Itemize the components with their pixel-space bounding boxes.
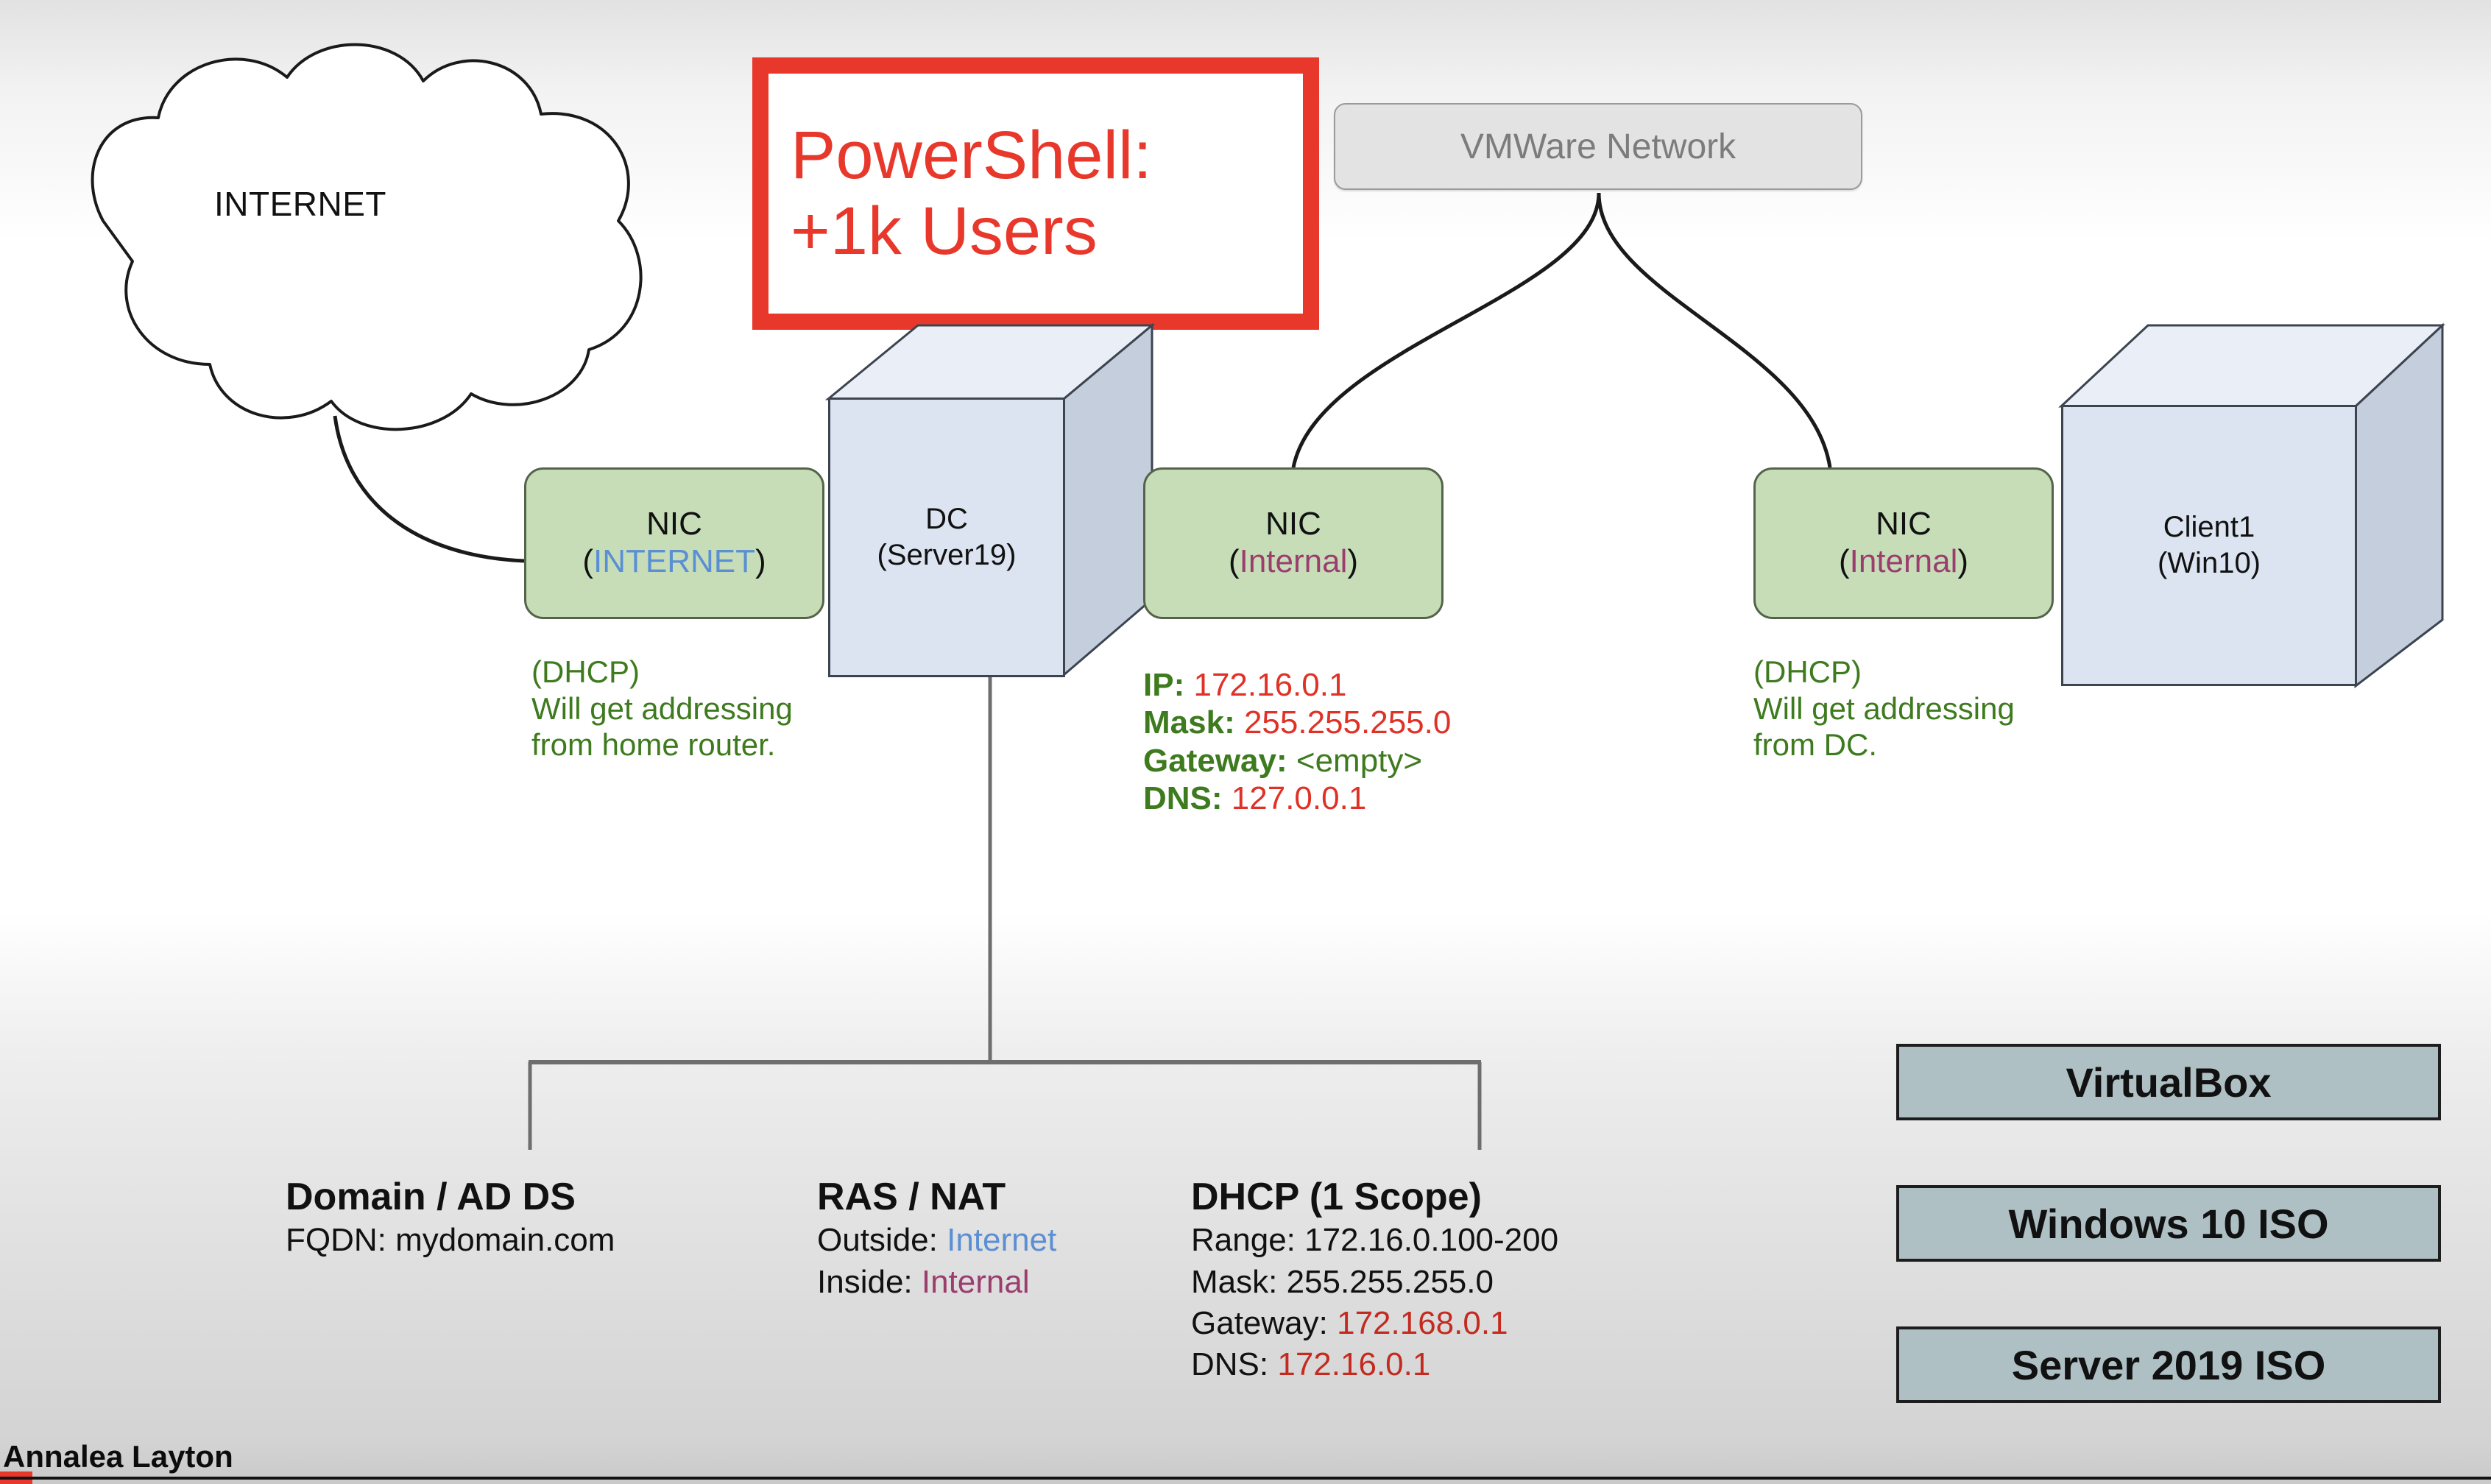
ipconfig-ip-label: IP: bbox=[1143, 667, 1184, 703]
ipconfig-block: IP: 172.16.0.1 Mask: 255.255.255.0 Gatew… bbox=[1143, 666, 1451, 818]
role-domain-fqdn-value: mydomain.com bbox=[395, 1222, 615, 1258]
server-box-dc-front: DC (Server19) bbox=[828, 397, 1065, 677]
nic-internal-client-close-paren: ) bbox=[1957, 543, 1968, 579]
nic-internal-dc-open-paren: ( bbox=[1229, 543, 1240, 579]
tool-box-server-2019-iso-label: Server 2019 ISO bbox=[2012, 1341, 2326, 1389]
nic-internal-dc-title: NIC bbox=[1265, 506, 1321, 542]
role-ras-outside: Outside: Internet bbox=[817, 1221, 1056, 1259]
ipconfig-mask-label: Mask: bbox=[1143, 704, 1235, 741]
powershell-callout-line-1: PowerShell: bbox=[768, 118, 1303, 194]
nic-internet-dc-title: NIC bbox=[646, 506, 702, 542]
role-dhcp-mask-value: 255.255.255.0 bbox=[1287, 1264, 1494, 1300]
role-dhcp-gateway-label: Gateway: bbox=[1191, 1305, 1337, 1341]
role-ras-title: RAS / NAT bbox=[817, 1176, 1056, 1218]
powershell-callout: PowerShell: +1k Users bbox=[752, 57, 1319, 330]
role-dhcp-mask: Mask: 255.255.255.0 bbox=[1191, 1263, 1558, 1301]
role-ras-inside-value: Internal bbox=[922, 1264, 1030, 1300]
vmware-network-box: VMWare Network bbox=[1334, 103, 1862, 190]
role-dhcp-range-value: 172.16.0.100-200 bbox=[1304, 1222, 1558, 1258]
nic-internal-client-network: (Internal) bbox=[1839, 543, 1968, 581]
vmware-network-label: VMWare Network bbox=[1460, 127, 1736, 167]
nic-internet-dc-open-paren: ( bbox=[582, 543, 593, 579]
role-dhcp-gateway-value: 172.168.0.1 bbox=[1337, 1305, 1508, 1341]
note-dhcp-internet-line-3: from home router. bbox=[531, 727, 793, 763]
ipconfig-row-ip: IP: 172.16.0.1 bbox=[1143, 666, 1451, 704]
ipconfig-row-dns: DNS: 127.0.0.1 bbox=[1143, 780, 1451, 817]
role-domain-ad-ds: Domain / AD DS FQDN: mydomain.com bbox=[286, 1176, 615, 1260]
role-dhcp-mask-label: Mask: bbox=[1191, 1264, 1287, 1300]
role-dhcp-dns-value: 172.16.0.1 bbox=[1277, 1346, 1430, 1382]
note-dhcp-client-line-3: from DC. bbox=[1753, 727, 2015, 763]
role-domain-fqdn-label: FQDN: bbox=[286, 1222, 395, 1258]
server-box-client1: Client1 (Win10) bbox=[2061, 325, 2459, 693]
tool-box-windows-10-iso: Windows 10 ISO bbox=[1896, 1185, 2441, 1262]
nic-internet-dc-network-name: INTERNET bbox=[593, 543, 755, 579]
role-dhcp-title: DHCP (1 Scope) bbox=[1191, 1176, 1558, 1218]
nic-internal-client-open-paren: ( bbox=[1839, 543, 1850, 579]
role-dhcp-gateway: Gateway: 172.168.0.1 bbox=[1191, 1304, 1558, 1343]
nic-internal-client-network-name: Internal bbox=[1850, 543, 1958, 579]
ipconfig-ip-value: 172.16.0.1 bbox=[1193, 667, 1346, 703]
role-ras-inside-label: Inside: bbox=[817, 1264, 922, 1300]
note-dhcp-internet-line-2: Will get addressing bbox=[531, 690, 793, 727]
bottom-rule bbox=[0, 1477, 2491, 1480]
server-box-client1-line-2: (Win10) bbox=[2158, 545, 2261, 582]
powershell-callout-line-2: +1k Users bbox=[768, 194, 1303, 269]
nic-internet-dc-network: (INTERNET) bbox=[582, 543, 766, 581]
note-dhcp-client-line-2: Will get addressing bbox=[1753, 690, 2015, 727]
ipconfig-dns-label: DNS: bbox=[1143, 780, 1223, 816]
nic-internal-dc-network-name: Internal bbox=[1240, 543, 1348, 579]
server-box-client1-front: Client1 (Win10) bbox=[2061, 405, 2357, 686]
tool-box-windows-10-iso-label: Windows 10 ISO bbox=[2008, 1200, 2328, 1248]
role-ras-nat: RAS / NAT Outside: Internet Inside: Inte… bbox=[817, 1176, 1056, 1301]
role-dhcp-range: Range: 172.16.0.100-200 bbox=[1191, 1221, 1558, 1259]
nic-internal-dc: NIC (Internal) bbox=[1143, 467, 1444, 619]
ipconfig-row-mask: Mask: 255.255.255.0 bbox=[1143, 704, 1451, 741]
author-caption: Annalea Layton bbox=[3, 1439, 233, 1474]
role-ras-inside: Inside: Internal bbox=[817, 1263, 1056, 1301]
nic-internal-client: NIC (Internal) bbox=[1753, 467, 2054, 619]
internet-cloud-label: INTERNET bbox=[168, 184, 433, 224]
nic-internal-dc-network: (Internal) bbox=[1229, 543, 1358, 581]
ipconfig-gateway-value: <empty> bbox=[1296, 743, 1422, 779]
role-dhcp-dns-label: DNS: bbox=[1191, 1346, 1277, 1382]
note-dhcp-internet: (DHCP) Will get addressing from home rou… bbox=[531, 654, 793, 763]
server-box-dc-line-1: DC bbox=[925, 501, 968, 537]
role-dhcp-range-label: Range: bbox=[1191, 1222, 1304, 1258]
tool-box-virtualbox-label: VirtualBox bbox=[2066, 1059, 2271, 1106]
role-dhcp-scope: DHCP (1 Scope) Range: 172.16.0.100-200 M… bbox=[1191, 1176, 1558, 1385]
ipconfig-dns-value: 127.0.0.1 bbox=[1232, 780, 1367, 816]
ipconfig-mask-value: 255.255.255.0 bbox=[1244, 704, 1451, 741]
nic-internet-dc: NIC (INTERNET) bbox=[524, 467, 824, 619]
ipconfig-gateway-label: Gateway: bbox=[1143, 743, 1287, 779]
role-dhcp-dns: DNS: 172.16.0.1 bbox=[1191, 1346, 1558, 1384]
tool-box-virtualbox: VirtualBox bbox=[1896, 1044, 2441, 1120]
ipconfig-row-gateway: Gateway: <empty> bbox=[1143, 742, 1451, 780]
nic-internal-client-title: NIC bbox=[1876, 506, 1932, 542]
server-box-client1-line-1: Client1 bbox=[2163, 509, 2255, 545]
note-dhcp-client-line-1: (DHCP) bbox=[1753, 654, 2015, 690]
nic-internal-dc-close-paren: ) bbox=[1347, 543, 1358, 579]
server-box-dc: DC (Server19) bbox=[828, 325, 1167, 679]
note-dhcp-client: (DHCP) Will get addressing from DC. bbox=[1753, 654, 2015, 763]
server-box-dc-line-2: (Server19) bbox=[877, 537, 1017, 573]
tool-box-server-2019-iso: Server 2019 ISO bbox=[1896, 1326, 2441, 1403]
role-domain-title: Domain / AD DS bbox=[286, 1176, 615, 1218]
role-domain-fqdn: FQDN: mydomain.com bbox=[286, 1221, 615, 1259]
role-ras-outside-label: Outside: bbox=[817, 1222, 947, 1258]
role-ras-outside-value: Internet bbox=[947, 1222, 1056, 1258]
nic-internet-dc-close-paren: ) bbox=[755, 543, 766, 579]
note-dhcp-internet-line-1: (DHCP) bbox=[531, 654, 793, 690]
